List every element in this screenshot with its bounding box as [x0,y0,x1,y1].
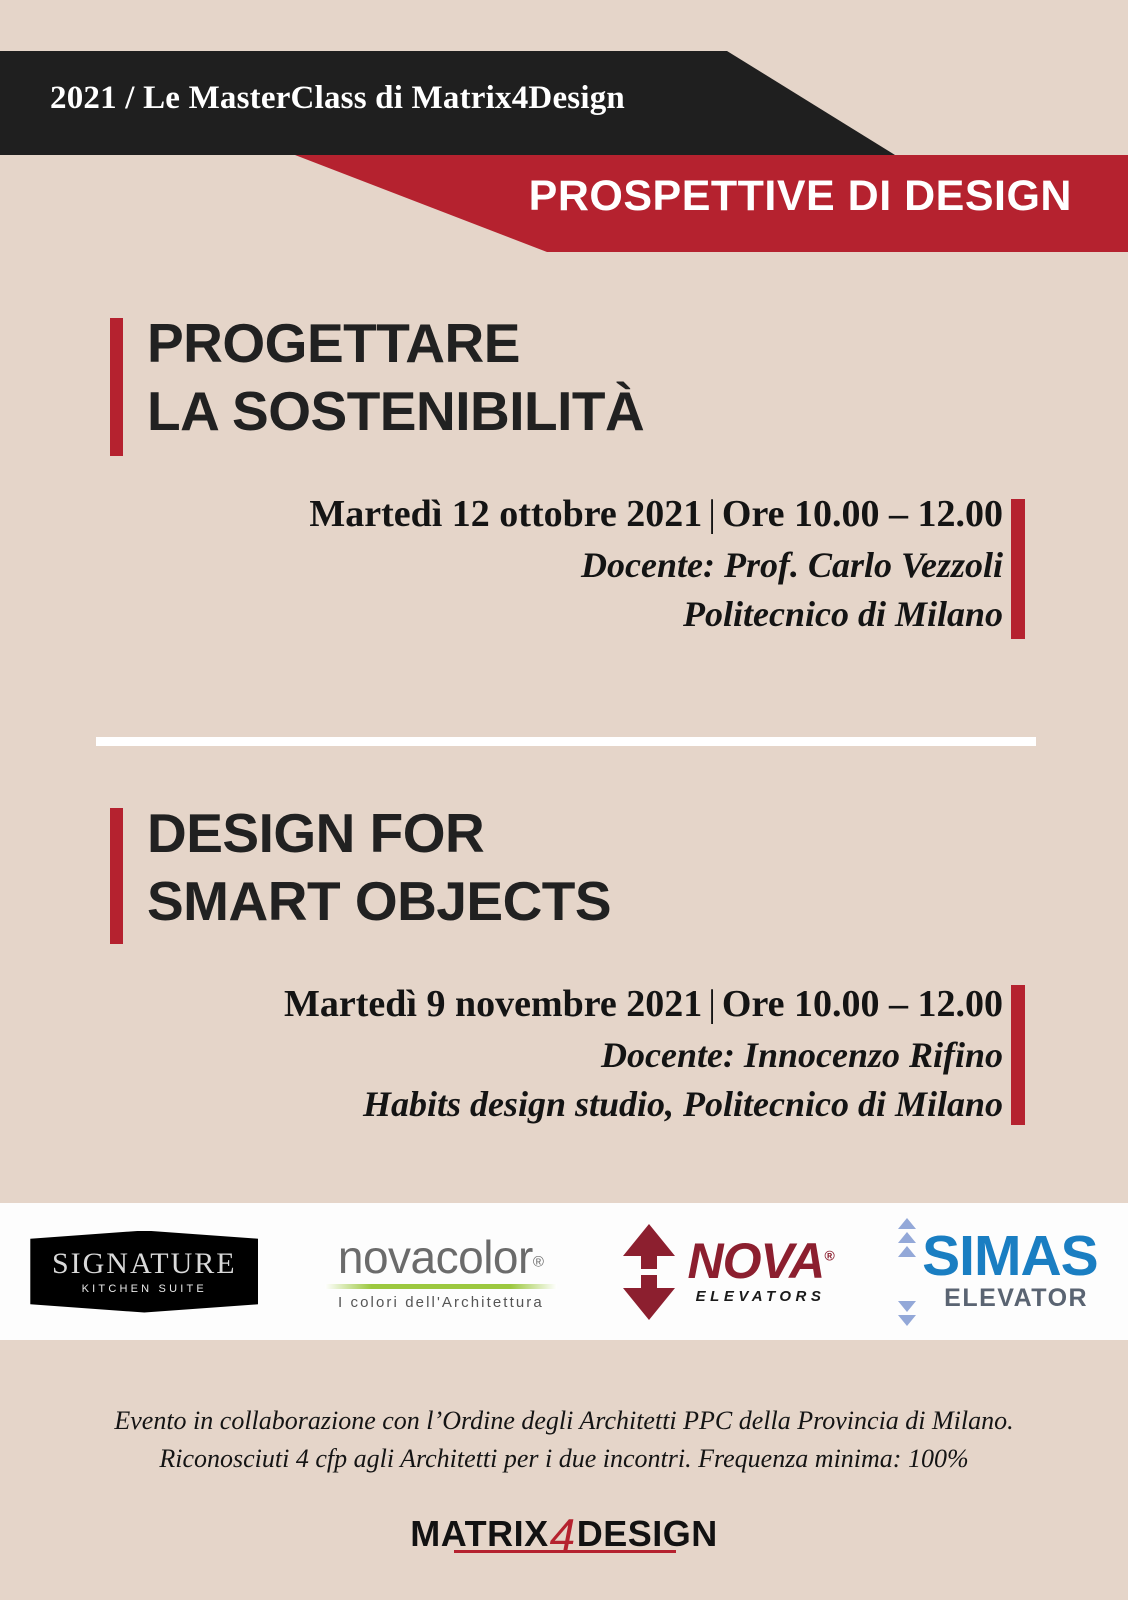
nova-wordmark: NOVA [687,1233,824,1289]
course-2-separator: | [702,979,722,1031]
matrix4design-part-design: DESIGN [577,1513,718,1555]
course-2-meta-accent-bar [1011,985,1025,1125]
simas-tagline: ELEVATOR [944,1284,1088,1313]
sponsor-strip: SIGNATURE KITCHEN SUITE novacolor® I col… [0,1203,1128,1340]
arrow-down-stem [641,1275,657,1288]
course-1-affiliation: Politecnico di Milano [0,590,1003,639]
course-2-title: DESIGN FOR SMART OBJECTS [112,800,1128,935]
nova-registered-icon: ® [824,1247,833,1263]
novacolor-wordmark-row: novacolor® [325,1234,557,1280]
novacolor-wordmark: novacolor [338,1234,533,1280]
course-1-when: Martedì 12 ottobre 2021|Ore 10.00 – 12.0… [0,489,1003,541]
nova-wordmark-row: NOVA® [687,1238,833,1286]
course-2-meta: Martedì 9 novembre 2021|Ore 10.00 – 12.0… [0,979,1128,1129]
course-2-title-accent-bar [110,808,123,944]
course-1-teacher: Docente: Prof. Carlo Vezzoli [0,541,1003,590]
course-2-when: Martedì 9 novembre 2021|Ore 10.00 – 12.0… [0,979,1003,1031]
nova-tagline: ELEVATORS [696,1288,826,1305]
course-1-title-wrap: PROGETTARE LA SOSTENIBILITÀ [0,310,1128,445]
simas-arrow-down-icon-1 [898,1301,916,1312]
arrow-up-icon [623,1224,675,1256]
nova-elevators-label-group: NOVA® ELEVATORS [687,1238,833,1306]
course-block-2: DESIGN FOR SMART OBJECTS Martedì 9 novem… [0,800,1128,1129]
signature-wordmark: SIGNATURE [52,1249,237,1279]
arrow-down-icon [623,1288,675,1320]
novacolor-tagline: I colori dell'Architettura [325,1295,557,1310]
course-1-separator: | [702,489,722,541]
matrix4design-logo: MATRIX4DESIGN [414,1503,714,1559]
footer: Evento in collaborazione con l’Ordine de… [0,1340,1128,1600]
arrow-up-stem [641,1256,657,1269]
matrix4design-part-matrix: MATRIX [410,1513,548,1555]
header-kicker: 2021 / Le MasterClass di Matrix4Design [50,80,625,117]
course-2-title-wrap: DESIGN FOR SMART OBJECTS [0,800,1128,935]
course-2-date: Martedì 9 novembre 2021 [284,983,702,1025]
signature-label-group: SIGNATURE KITCHEN SUITE [30,1231,258,1313]
up-down-arrows-icon [623,1224,675,1320]
course-block-1: PROGETTARE LA SOSTENIBILITÀ Martedì 12 o… [0,310,1128,639]
section-divider [96,737,1036,746]
course-2-affiliation: Habits design studio, Politecnico di Mil… [0,1080,1003,1129]
sponsor-logo-nova-elevators: NOVA® ELEVATORS [623,1224,833,1320]
course-1-date: Martedì 12 ottobre 2021 [309,493,702,535]
novacolor-group: novacolor® I colori dell'Architettura [325,1234,557,1310]
sponsor-logo-signature: SIGNATURE KITCHEN SUITE [30,1231,258,1313]
simas-arrow-up-icon-2 [898,1232,916,1243]
course-1-meta: Martedì 12 ottobre 2021|Ore 10.00 – 12.0… [0,489,1128,639]
simas-wordmark: SIMAS [922,1230,1098,1282]
course-1-time: Ore 10.00 – 12.00 [722,493,1003,535]
novacolor-green-rule [325,1284,557,1289]
simas-arrow-up-icon-1 [898,1218,916,1229]
course-1-title: PROGETTARE LA SOSTENIBILITÀ [112,310,1128,445]
poster-canvas: 2021 / Le MasterClass di Matrix4Design P… [0,0,1128,1600]
novacolor-registered-icon: ® [533,1253,544,1270]
matrix4design-underline [454,1550,676,1553]
series-title: PROSPETTIVE DI DESIGN [529,172,1072,221]
sponsor-logo-simas-elevator: SIMAS ELEVATOR [894,1218,1098,1326]
course-2-time: Ore 10.00 – 12.00 [722,983,1003,1025]
simas-arrows-icon [894,1218,920,1326]
simas-arrow-down-icon-2 [898,1315,916,1326]
matrix4design-part-four: 4 [549,1508,577,1562]
footer-note: Evento in collaborazione con l’Ordine de… [0,1340,1128,1477]
sponsor-logo-novacolor: novacolor® I colori dell'Architettura [319,1234,563,1310]
matrix4design-wordmark: MATRIX4DESIGN [414,1503,714,1557]
course-1-title-accent-bar [110,318,123,456]
simas-label-group: SIMAS ELEVATOR [922,1230,1098,1312]
course-1-meta-accent-bar [1011,499,1025,639]
signature-tagline: KITCHEN SUITE [82,1284,207,1295]
simas-arrow-up-icon-3 [898,1246,916,1257]
course-2-teacher: Docente: Innocenzo Rifino [0,1031,1003,1080]
